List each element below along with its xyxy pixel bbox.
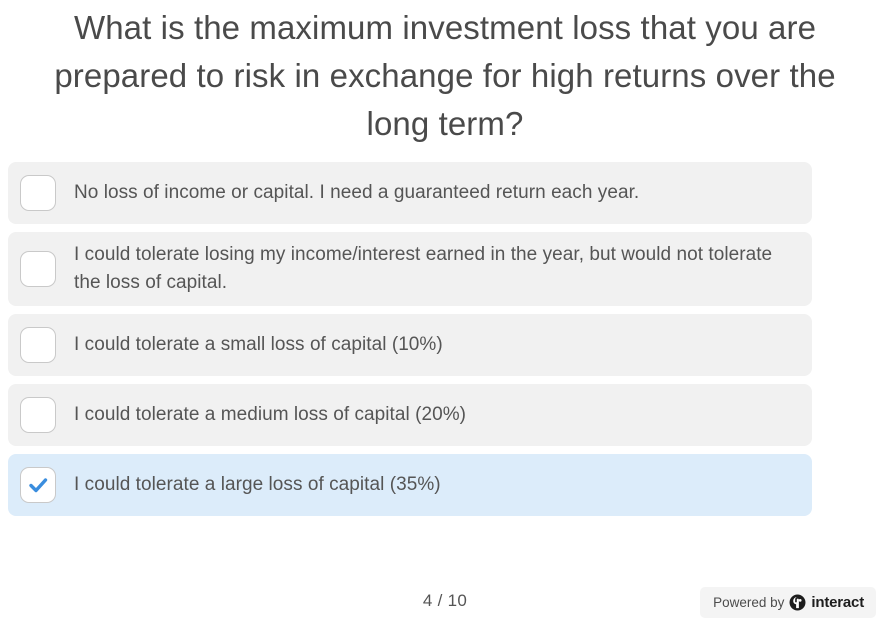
option-row-1[interactable]: No loss of income or capital. I need a g…	[8, 162, 812, 224]
option-label: I could tolerate a medium loss of capita…	[74, 401, 474, 429]
option-label: No loss of income or capital. I need a g…	[74, 179, 647, 207]
quiz-container: What is the maximum investment loss that…	[0, 0, 890, 641]
option-row-3[interactable]: I could tolerate a small loss of capital…	[8, 314, 812, 376]
check-icon[interactable]	[20, 467, 56, 503]
option-label: I could tolerate a large loss of capital…	[74, 471, 449, 499]
empty-checkbox-icon[interactable]	[20, 397, 56, 433]
option-label: I could tolerate a small loss of capital…	[74, 331, 451, 359]
footer: 4 / 10 Powered by interact	[0, 581, 890, 641]
powered-by-label: Powered by	[713, 595, 784, 610]
empty-checkbox-icon[interactable]	[20, 327, 56, 363]
option-label: I could tolerate losing my income/intere…	[74, 241, 800, 297]
option-row-2[interactable]: I could tolerate losing my income/intere…	[8, 232, 812, 306]
empty-checkbox-icon[interactable]	[20, 175, 56, 211]
powered-by-badge[interactable]: Powered by interact	[700, 587, 876, 618]
option-row-5[interactable]: I could tolerate a large loss of capital…	[8, 454, 812, 516]
options-list: No loss of income or capital. I need a g…	[0, 162, 890, 516]
empty-checkbox-icon[interactable]	[20, 251, 56, 287]
interact-brand-name: interact	[811, 594, 864, 611]
option-row-4[interactable]: I could tolerate a medium loss of capita…	[8, 384, 812, 446]
interact-logo-icon	[789, 594, 806, 611]
question-title: What is the maximum investment loss that…	[0, 0, 890, 148]
